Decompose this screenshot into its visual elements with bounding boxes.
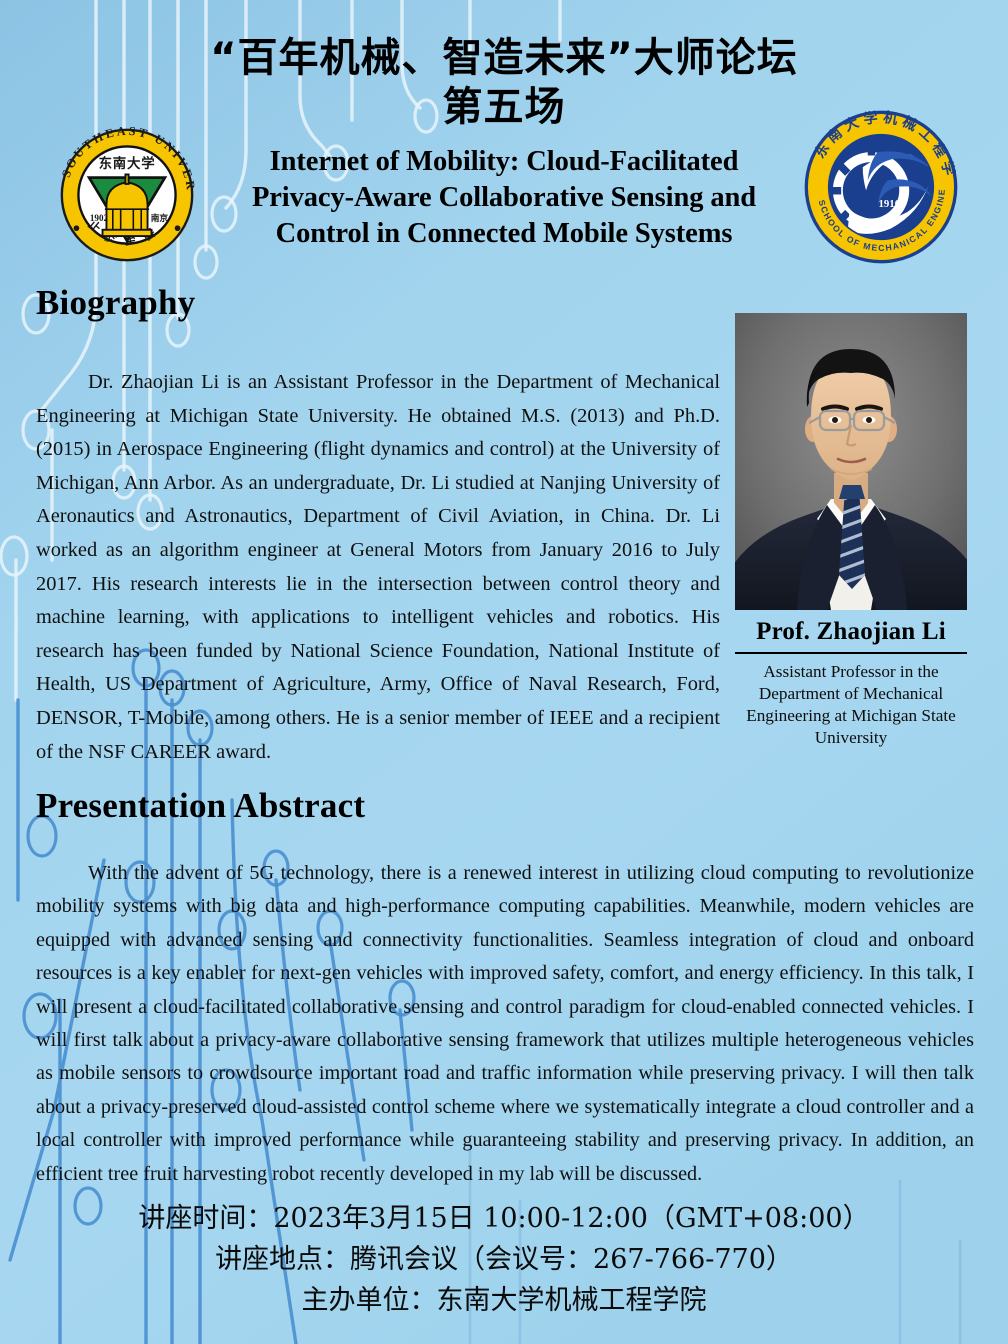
- event-details-footer: 讲座时间：2023年3月15日 10:00-12:00（GMT+08:00） 讲…: [0, 1198, 1008, 1321]
- speaker-affiliation: Assistant Professor in the Department of…: [735, 661, 967, 749]
- title-english-line2: Privacy-Aware Collaborative Sensing and: [186, 180, 822, 216]
- speaker-card: Prof. Zhaojian Li Assistant Professor in…: [735, 313, 967, 749]
- svg-text:南京: 南京: [151, 212, 169, 224]
- school-of-mechanical-engineering-logo: 1916 东南大学机械工程学院 SCHOOL OF MECHANICAL ENG…: [798, 104, 964, 270]
- speaker-name: Prof. Zhaojian Li: [735, 618, 967, 646]
- seminar-poster: SOUTHEAST UNIVERSITY 止於至善 东南大学: [0, 0, 1008, 1344]
- biography-text: Dr. Zhaojian Li is an Assistant Professo…: [36, 366, 720, 769]
- svg-text:1916: 1916: [879, 198, 901, 210]
- event-time: 讲座时间：2023年3月15日 10:00-12:00（GMT+08:00）: [0, 1198, 1008, 1239]
- svg-text:东南大学: 东南大学: [99, 155, 156, 172]
- abstract-text: With the advent of 5G technology, there …: [36, 857, 974, 1191]
- title-chinese-line2: 第五场: [186, 83, 822, 132]
- speaker-name-divider: [735, 652, 967, 654]
- svg-text:1902: 1902: [90, 213, 109, 223]
- abstract-heading: Presentation Abstract: [36, 786, 365, 826]
- title-english-line1: Internet of Mobility: Cloud-Facilitated: [186, 144, 822, 180]
- title-chinese: “百年机械、智造未来”大师论坛 第五场: [186, 34, 822, 132]
- title-chinese-line1: “百年机械、智造未来”大师论坛: [186, 34, 822, 83]
- event-host: 主办单位：东南大学机械工程学院: [0, 1280, 1008, 1321]
- poster-title-block: “百年机械、智造未来”大师论坛 第五场 Internet of Mobility…: [186, 34, 822, 252]
- event-place: 讲座地点：腾讯会议（会议号：267-766-770）: [0, 1239, 1008, 1280]
- title-english-line3: Control in Connected Mobile Systems: [186, 216, 822, 252]
- southeast-university-seal-logo: SOUTHEAST UNIVERSITY 止於至善 东南大学: [48, 116, 206, 274]
- poster-header: SOUTHEAST UNIVERSITY 止於至善 东南大学: [0, 0, 1008, 278]
- biography-heading: Biography: [36, 283, 195, 323]
- title-english: Internet of Mobility: Cloud-Facilitated …: [186, 144, 822, 253]
- speaker-photo: [735, 313, 967, 610]
